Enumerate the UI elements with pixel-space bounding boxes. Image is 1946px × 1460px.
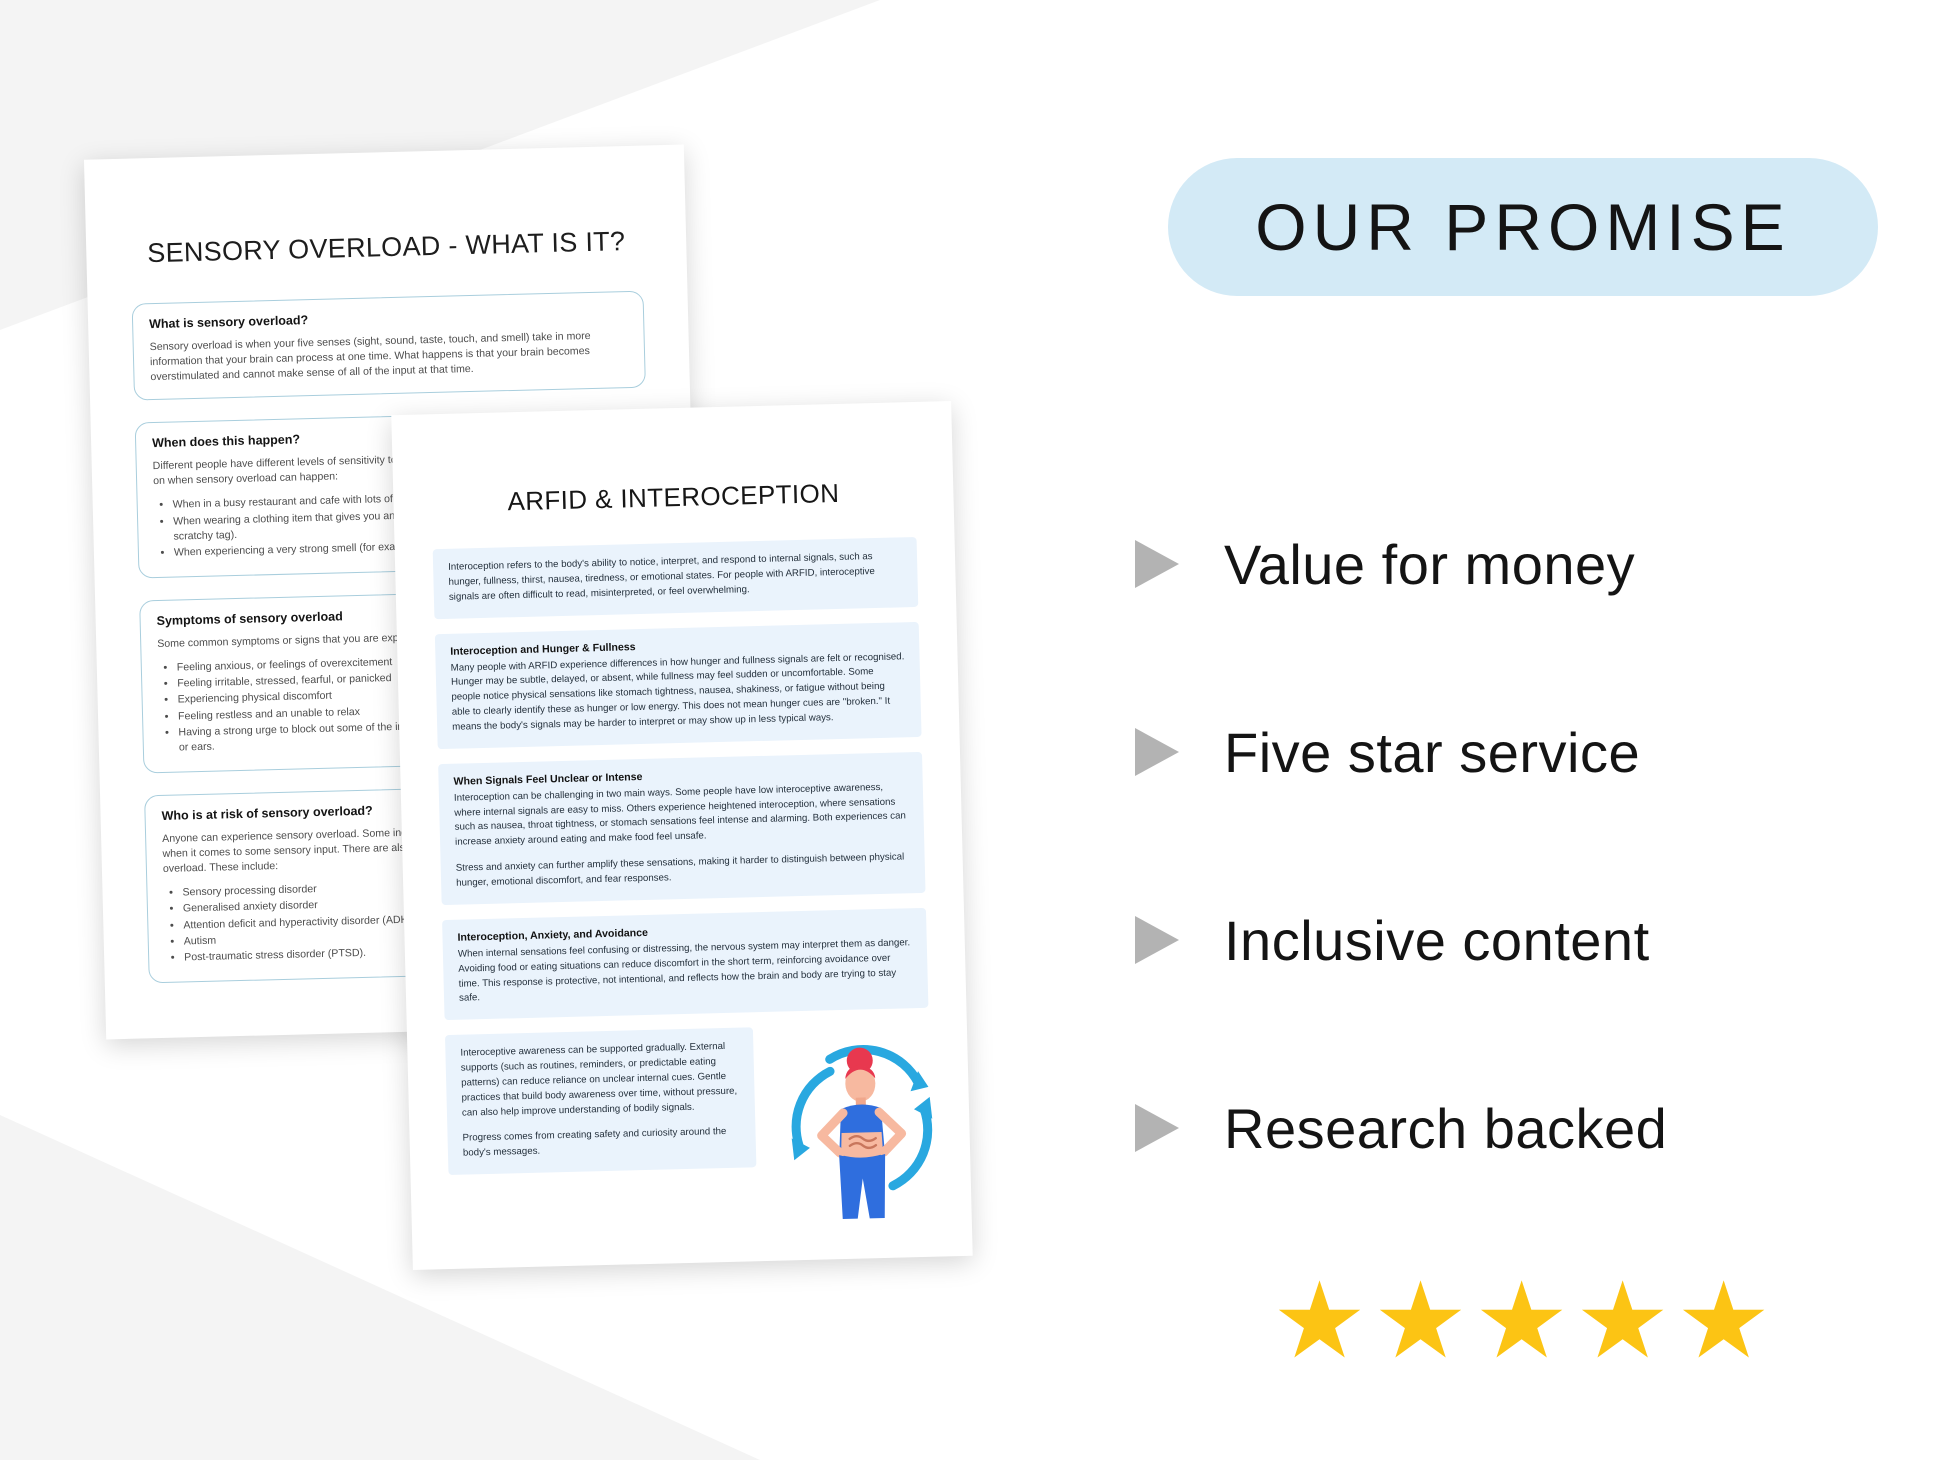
triangle-right-icon	[1130, 912, 1184, 968]
our-promise-banner: OUR PROMISE	[1168, 158, 1878, 296]
promise-item-label: Inclusive content	[1224, 908, 1650, 973]
doc2-section-paragraph: When internal sensations feel confusing …	[458, 936, 913, 1007]
doc2-closing-paragraph: Interoceptive awareness can be supported…	[460, 1040, 740, 1121]
promise-item: Research backed	[1130, 1034, 1920, 1222]
doc2-intro-text: Interoception refers to the body's abili…	[448, 549, 903, 605]
doc1-section-body: Sensory overload is when your five sense…	[150, 328, 629, 385]
document-arfid-interoception[interactable]: ARFID & INTEROCEPTION Interoception refe…	[391, 401, 972, 1270]
our-promise-heading: OUR PROMISE	[1255, 189, 1790, 265]
doc2-closing-row: Interoceptive awareness can be supported…	[445, 1023, 934, 1239]
doc1-page-title: SENSORY OVERLOAD - WHAT IS IT?	[130, 226, 643, 270]
doc2-intro-card: Interoception refers to the body's abili…	[433, 537, 919, 619]
star-icon: ★	[1373, 1268, 1468, 1374]
doc2-closing-paragraph: Progress comes from creating safety and …	[462, 1125, 741, 1162]
star-icon: ★	[1676, 1268, 1771, 1374]
star-rating: ★ ★ ★ ★ ★	[1272, 1268, 1771, 1374]
doc2-section-paragraph: Interoception can be challenging in two …	[454, 780, 909, 851]
doc2-closing-card: Interoceptive awareness can be supported…	[445, 1027, 756, 1175]
promise-item: Value for money	[1130, 470, 1920, 658]
doc2-section-paragraph: Stress and anxiety can further amplify t…	[456, 850, 911, 891]
promise-item-label: Five star service	[1224, 720, 1640, 785]
triangle-right-icon	[1130, 724, 1184, 780]
doc2-section-paragraph: Many people with ARFID experience differ…	[451, 650, 907, 736]
promise-item-label: Research backed	[1224, 1096, 1667, 1161]
star-icon: ★	[1272, 1268, 1367, 1374]
woman-body-awareness-illustration	[767, 1026, 957, 1231]
triangle-right-icon	[1130, 1100, 1184, 1156]
doc2-section-card: Interoception and Hunger & Fullness Many…	[435, 621, 922, 748]
star-icon: ★	[1474, 1268, 1569, 1374]
doc2-page-title: ARFID & INTEROCEPTION	[431, 476, 916, 519]
doc1-section-card: What is sensory overload? Sensory overlo…	[132, 291, 646, 401]
promise-item-label: Value for money	[1224, 532, 1635, 597]
triangle-right-icon	[1130, 536, 1184, 592]
star-icon: ★	[1575, 1268, 1670, 1374]
doc1-section-heading: What is sensory overload?	[149, 305, 627, 331]
promise-item: Five star service	[1130, 658, 1920, 846]
doc2-section-card: When Signals Feel Unclear or Intense Int…	[438, 752, 925, 905]
doc2-illustration-wrap	[767, 1022, 957, 1231]
promise-list: Value for money Five star service Inclus…	[1130, 470, 1920, 1222]
promise-item: Inclusive content	[1130, 846, 1920, 1034]
doc2-section-card: Interoception, Anxiety, and Avoidance Wh…	[442, 908, 928, 1021]
